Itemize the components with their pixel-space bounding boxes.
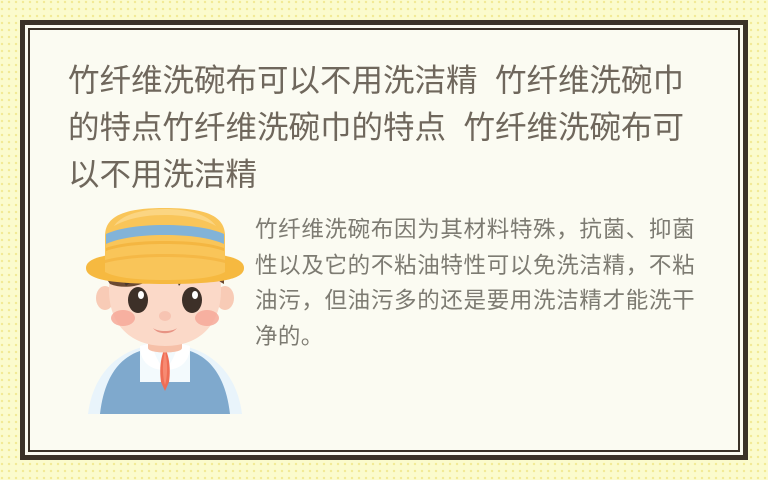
eye-left-highlight — [138, 291, 144, 299]
straw-hat-group — [86, 208, 244, 284]
poster-frame-outer: 竹纤维洗碗布可以不用洗洁精 竹纤维洗碗巾的特点竹纤维洗碗巾的特点 竹纤维洗碗布可… — [20, 20, 748, 460]
body-paragraph: 竹纤维洗碗布因为其材料特殊，抗菌、抑菌性以及它的不粘油特性可以免洗洁精，不粘油污… — [255, 212, 695, 354]
poster-content-plate: 竹纤维洗碗布可以不用洗洁精 竹纤维洗碗巾的特点竹纤维洗碗巾的特点 竹纤维洗碗布可… — [30, 30, 738, 450]
poster-frame-inner: 竹纤维洗碗布可以不用洗洁精 竹纤维洗碗巾的特点竹纤维洗碗巾的特点 竹纤维洗碗布可… — [28, 28, 740, 452]
cheek-left — [111, 310, 135, 326]
nose — [159, 311, 171, 321]
cheek-right — [195, 310, 219, 326]
eye-left — [128, 287, 148, 313]
page-title: 竹纤维洗碗布可以不用洗洁精 竹纤维洗碗巾的特点竹纤维洗碗巾的特点 竹纤维洗碗布可… — [68, 57, 706, 198]
eye-right — [182, 287, 202, 313]
clothing-group — [88, 343, 242, 414]
eye-right-highlight — [192, 291, 198, 299]
boy-illustration — [74, 206, 256, 414]
poster-canvas: 竹纤维洗碗布可以不用洗洁精 竹纤维洗碗巾的特点竹纤维洗碗巾的特点 竹纤维洗碗布可… — [0, 0, 768, 480]
boy-illustration-svg — [74, 206, 256, 414]
